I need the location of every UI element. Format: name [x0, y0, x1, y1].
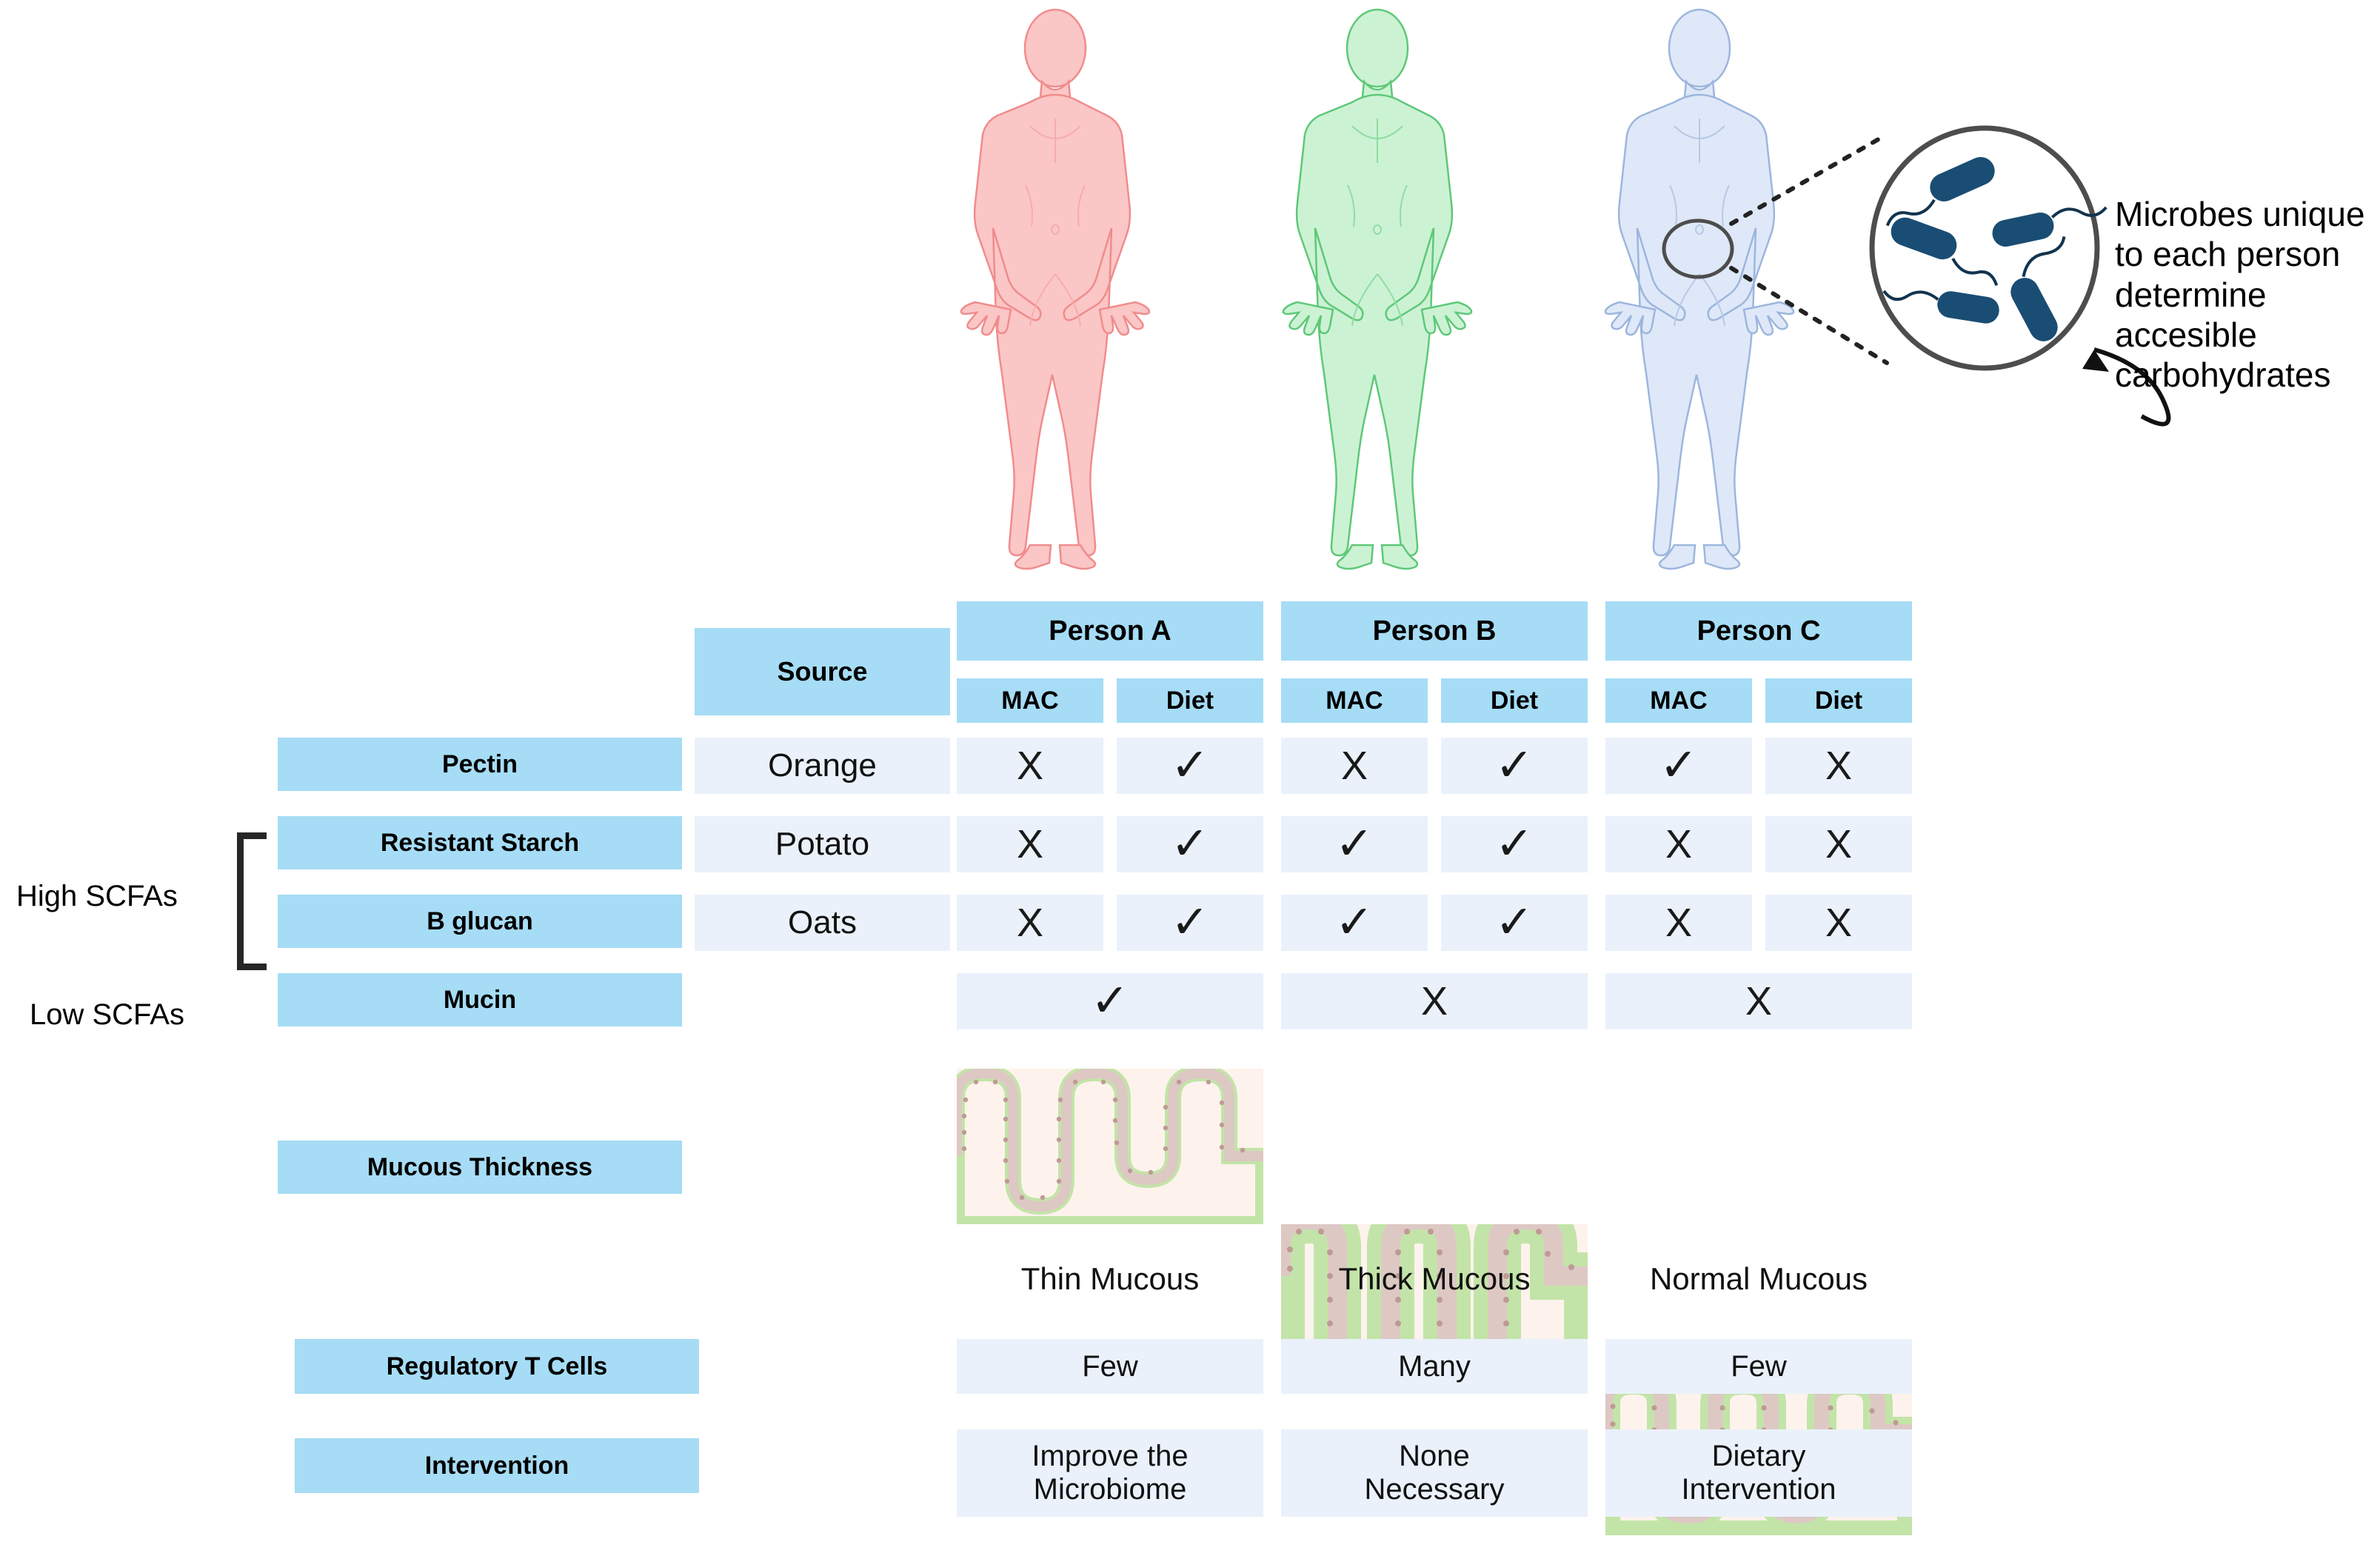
x-icon: X — [1421, 981, 1448, 1021]
cell-intervention-b: None Necessary — [1281, 1429, 1588, 1517]
cell-b-glucan-c-mac: X — [1605, 895, 1752, 951]
person-header-b: Person B — [1281, 601, 1588, 661]
x-icon: X — [1665, 824, 1692, 864]
cell-resistant-starch-c-diet: X — [1765, 816, 1912, 872]
mucous-caption-a: Thin Mucous — [957, 1259, 1263, 1299]
x-icon: X — [1017, 824, 1043, 864]
person-a-body — [959, 7, 1151, 570]
source-cell-orange: Orange — [695, 738, 950, 794]
x-icon: X — [1825, 903, 1852, 943]
figure-root: Microbes unique to each person determine… — [0, 0, 2380, 1556]
row-label-resistant-starch: Resistant Starch — [278, 816, 682, 869]
subheader-a-mac: MAC — [957, 678, 1103, 723]
x-icon: X — [1341, 746, 1368, 786]
cell-treg-b: Many — [1281, 1339, 1588, 1394]
row-label-mucous-thickness: Mucous Thickness — [278, 1141, 682, 1194]
source-cell-oats: Oats — [695, 895, 950, 951]
source-header: Source — [695, 628, 950, 715]
cell-treg-c: Few — [1605, 1339, 1912, 1394]
check-icon: ✓ — [1335, 821, 1374, 867]
mucous-caption-b: Thick Mucous — [1281, 1259, 1588, 1299]
row-label-pectin: Pectin — [278, 738, 682, 791]
person-b-body — [1281, 7, 1474, 570]
cell-pectin-a-mac: X — [957, 738, 1103, 794]
check-icon: ✓ — [1495, 743, 1534, 789]
cell-resistant-starch-a-diet: ✓ — [1117, 816, 1263, 872]
high-scfas-label: High SCFAs — [16, 878, 224, 915]
cell-mucin-a: ✓ — [957, 973, 1263, 1029]
high-scfas-bracket — [237, 832, 267, 970]
cell-b-glucan-b-mac: ✓ — [1281, 895, 1428, 951]
check-icon: ✓ — [1171, 900, 1209, 946]
cell-b-glucan-c-diet: X — [1765, 895, 1912, 951]
callout-line-bottom — [1731, 268, 1887, 363]
person-header-a: Person A — [957, 601, 1263, 661]
subheader-c-mac: MAC — [1605, 678, 1752, 723]
callout-line-top — [1731, 137, 1882, 224]
person-header-c: Person C — [1605, 601, 1912, 661]
cell-resistant-starch-b-mac: ✓ — [1281, 816, 1428, 872]
x-icon: X — [1825, 746, 1852, 786]
subheader-b-mac: MAC — [1281, 678, 1428, 723]
x-icon: X — [1017, 746, 1043, 786]
row-label-intervention: Intervention — [295, 1438, 699, 1493]
villi-panel-a — [957, 1069, 1263, 1224]
cell-intervention-c: Dietary Intervention — [1605, 1429, 1912, 1517]
check-icon: ✓ — [1335, 900, 1374, 946]
row-label-b-glucan: B glucan — [278, 895, 682, 948]
check-icon: ✓ — [1171, 743, 1209, 789]
check-icon: ✓ — [1091, 978, 1129, 1024]
check-icon: ✓ — [1171, 821, 1209, 867]
source-cell-potato: Potato — [695, 816, 950, 872]
cell-resistant-starch-c-mac: X — [1605, 816, 1752, 872]
x-icon: X — [1745, 981, 1772, 1021]
check-icon: ✓ — [1659, 743, 1698, 789]
check-icon: ✓ — [1495, 900, 1534, 946]
cell-intervention-a: Improve the Microbiome — [957, 1429, 1263, 1517]
cell-pectin-c-diet: X — [1765, 738, 1912, 794]
x-icon: X — [1665, 903, 1692, 943]
cell-b-glucan-a-diet: ✓ — [1117, 895, 1263, 951]
cell-resistant-starch-a-mac: X — [957, 816, 1103, 872]
check-icon: ✓ — [1495, 821, 1534, 867]
cell-mucin-b: X — [1281, 973, 1588, 1029]
subheader-a-diet: Diet — [1117, 678, 1263, 723]
row-label-regulatory-t-cells: Regulatory T Cells — [295, 1339, 699, 1394]
callout-annotation-text: Microbes unique to each person determine… — [2115, 194, 2380, 395]
cell-pectin-a-diet: ✓ — [1117, 738, 1263, 794]
cell-pectin-c-mac: ✓ — [1605, 738, 1752, 794]
cell-pectin-b-mac: X — [1281, 738, 1428, 794]
subheader-b-diet: Diet — [1441, 678, 1588, 723]
subheader-c-diet: Diet — [1765, 678, 1912, 723]
mucous-caption-c: Normal Mucous — [1605, 1259, 1912, 1299]
x-icon: X — [1017, 903, 1043, 943]
row-label-mucin: Mucin — [278, 973, 682, 1026]
cell-pectin-b-diet: ✓ — [1441, 738, 1588, 794]
cell-treg-a: Few — [957, 1339, 1263, 1394]
cell-b-glucan-a-mac: X — [957, 895, 1103, 951]
cell-mucin-c: X — [1605, 973, 1912, 1029]
cell-b-glucan-b-diet: ✓ — [1441, 895, 1588, 951]
low-scfas-label: Low SCFAs — [30, 996, 237, 1033]
x-icon: X — [1825, 824, 1852, 864]
cell-resistant-starch-b-diet: ✓ — [1441, 816, 1588, 872]
